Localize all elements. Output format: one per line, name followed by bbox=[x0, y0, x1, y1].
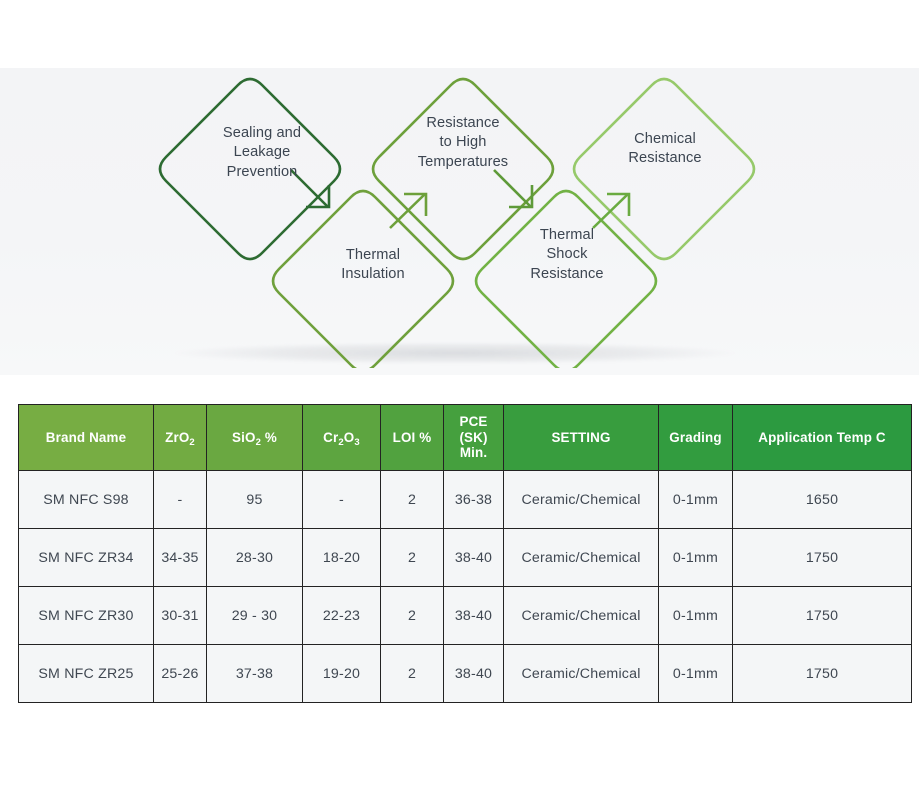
cell-brand: SM NFC ZR30 bbox=[19, 587, 154, 645]
connector-arrow-high-temp-to-thermal-shock bbox=[494, 170, 532, 207]
cell-grading: 0-1mm bbox=[659, 471, 733, 529]
cell-loi: 2 bbox=[381, 587, 444, 645]
diamond-label-line: Leakage bbox=[186, 143, 338, 162]
diamond-label-high-temp: Resistance to High Temperatures bbox=[388, 114, 538, 172]
diamond-label-line: Shock bbox=[492, 245, 642, 264]
diamond-label-thermal-shock: Thermal Shock Resistance bbox=[492, 226, 642, 284]
cell-pce: 38-40 bbox=[444, 529, 504, 587]
diamond-label-sealing: Sealing and Leakage Prevention bbox=[186, 124, 338, 182]
cell-sio2: 37-38 bbox=[207, 645, 303, 703]
cell-app-temp: 1750 bbox=[733, 587, 912, 645]
column-header-sio2[interactable]: SiO2 % bbox=[207, 405, 303, 471]
cell-sio2: 95 bbox=[207, 471, 303, 529]
cell-grading: 0-1mm bbox=[659, 529, 733, 587]
diamond-label-line: Thermal bbox=[492, 226, 642, 245]
cell-pce: 38-40 bbox=[444, 587, 504, 645]
cell-loi: 2 bbox=[381, 529, 444, 587]
cell-setting: Ceramic/Chemical bbox=[504, 587, 659, 645]
cell-zro2: 25-26 bbox=[154, 645, 207, 703]
column-header-brand[interactable]: Brand Name bbox=[19, 405, 154, 471]
diamond-label-line: Chemical bbox=[590, 130, 740, 149]
page-root: Sealing and Leakage Prevention Thermal I… bbox=[0, 0, 919, 788]
cell-app-temp: 1750 bbox=[733, 645, 912, 703]
specification-table: Brand Name ZrO2 SiO2 % Cr2O3 LOI % PCE(S… bbox=[18, 404, 912, 703]
diamond-label-line: Resistance bbox=[492, 265, 642, 284]
cell-loi: 2 bbox=[381, 645, 444, 703]
cell-zro2: - bbox=[154, 471, 207, 529]
cell-pce: 38-40 bbox=[444, 645, 504, 703]
table-row: SM NFC ZR30 30-31 29 - 30 22-23 2 38-40 … bbox=[19, 587, 912, 645]
cell-cr2o3: - bbox=[303, 471, 381, 529]
cell-setting: Ceramic/Chemical bbox=[504, 471, 659, 529]
table-row: SM NFC S98 - 95 - 2 36-38 Ceramic/Chemic… bbox=[19, 471, 912, 529]
diamond-label-thermal-insulation: Thermal Insulation bbox=[297, 246, 449, 285]
column-header-loi[interactable]: LOI % bbox=[381, 405, 444, 471]
cell-brand: SM NFC S98 bbox=[19, 471, 154, 529]
cell-loi: 2 bbox=[381, 471, 444, 529]
diamond-label-line: Thermal bbox=[297, 246, 449, 265]
cell-app-temp: 1750 bbox=[733, 529, 912, 587]
column-header-grading[interactable]: Grading bbox=[659, 405, 733, 471]
diamond-label-line: Temperatures bbox=[388, 153, 538, 172]
cell-sio2: 29 - 30 bbox=[207, 587, 303, 645]
cell-cr2o3: 19-20 bbox=[303, 645, 381, 703]
specification-table-container: Brand Name ZrO2 SiO2 % Cr2O3 LOI % PCE(S… bbox=[18, 404, 911, 703]
diamond-label-line: Prevention bbox=[186, 163, 338, 182]
column-header-pce[interactable]: PCE(SK)Min. bbox=[444, 405, 504, 471]
cell-setting: Ceramic/Chemical bbox=[504, 645, 659, 703]
column-header-zro2[interactable]: ZrO2 bbox=[154, 405, 207, 471]
table-row: SM NFC ZR25 25-26 37-38 19-20 2 38-40 Ce… bbox=[19, 645, 912, 703]
diamond-label-line: Sealing and bbox=[186, 124, 338, 143]
cell-cr2o3: 18-20 bbox=[303, 529, 381, 587]
cell-grading: 0-1mm bbox=[659, 645, 733, 703]
diamond-label-line: Insulation bbox=[297, 265, 449, 284]
table-row: SM NFC ZR34 34-35 28-30 18-20 2 38-40 Ce… bbox=[19, 529, 912, 587]
cell-setting: Ceramic/Chemical bbox=[504, 529, 659, 587]
column-header-cr2o3[interactable]: Cr2O3 bbox=[303, 405, 381, 471]
cell-brand: SM NFC ZR25 bbox=[19, 645, 154, 703]
cell-grading: 0-1mm bbox=[659, 587, 733, 645]
cell-app-temp: 1650 bbox=[733, 471, 912, 529]
diamond-label-line: to High bbox=[388, 133, 538, 152]
diamond-label-line: Resistance bbox=[590, 149, 740, 168]
diamond-label-line: Resistance bbox=[388, 114, 538, 133]
cell-sio2: 28-30 bbox=[207, 529, 303, 587]
cell-brand: SM NFC ZR34 bbox=[19, 529, 154, 587]
cell-zro2: 34-35 bbox=[154, 529, 207, 587]
table-header-row: Brand Name ZrO2 SiO2 % Cr2O3 LOI % PCE(S… bbox=[19, 405, 912, 471]
table-body: SM NFC S98 - 95 - 2 36-38 Ceramic/Chemic… bbox=[19, 471, 912, 703]
table-header: Brand Name ZrO2 SiO2 % Cr2O3 LOI % PCE(S… bbox=[19, 405, 912, 471]
diamond-label-chemical: Chemical Resistance bbox=[590, 130, 740, 169]
cell-zro2: 30-31 bbox=[154, 587, 207, 645]
process-diagram: Sealing and Leakage Prevention Thermal I… bbox=[0, 68, 919, 368]
diagram-canvas bbox=[0, 68, 919, 368]
column-header-setting[interactable]: SETTING bbox=[504, 405, 659, 471]
cell-cr2o3: 22-23 bbox=[303, 587, 381, 645]
column-header-app-temp[interactable]: Application Temp C bbox=[733, 405, 912, 471]
cell-pce: 36-38 bbox=[444, 471, 504, 529]
